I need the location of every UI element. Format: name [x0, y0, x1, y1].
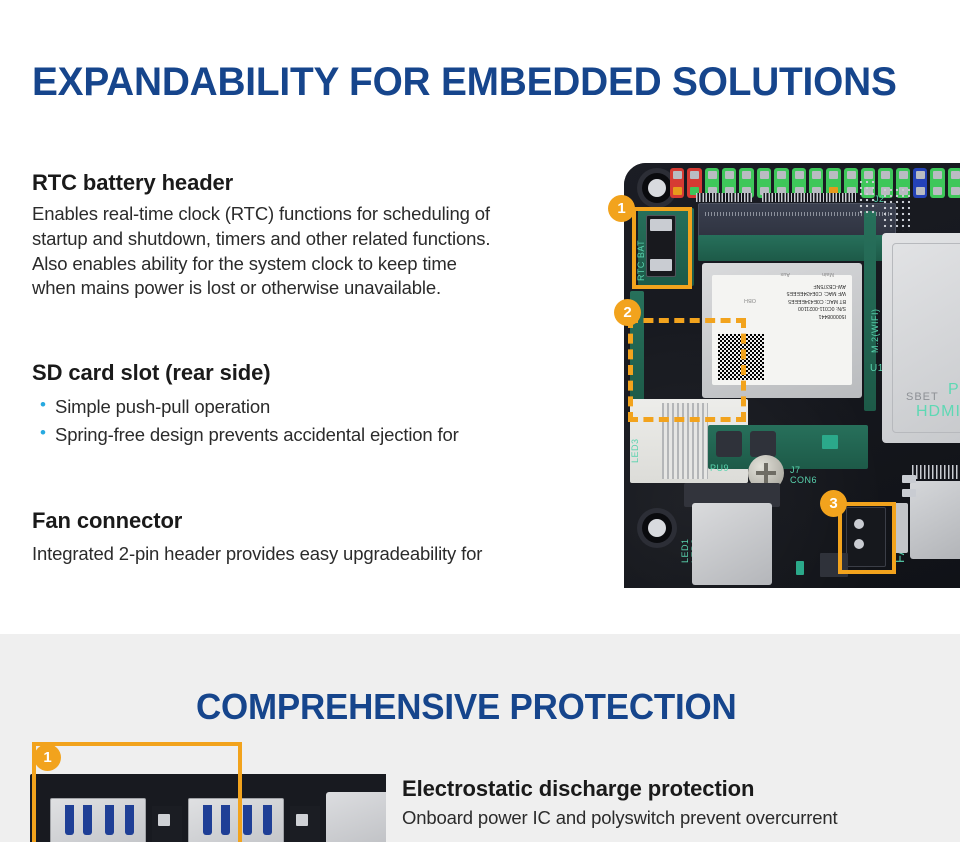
usb-mid-block: [290, 806, 320, 842]
label-part-number: AW-CB375NF: [787, 281, 846, 289]
label-serial: S/N: 0C011-0021100: [787, 304, 846, 312]
body-line: Enables real-time clock (RTC) functions …: [32, 202, 592, 227]
antenna-main-label: Main: [822, 271, 834, 277]
gpio-pin: [670, 168, 684, 198]
body-line: Integrated 2-pin header provides easy up…: [32, 542, 592, 567]
callout-box-rtc: [632, 207, 692, 289]
silver-connector-block: [326, 792, 386, 842]
body-line: startup and shutdown, timers and other r…: [32, 227, 592, 252]
m2-pin-row: [696, 193, 752, 202]
silk-con6: CON6: [790, 475, 817, 485]
via-pad-grid: [882, 187, 910, 231]
callout-box-fan: [838, 502, 896, 574]
hdmi-pin-row: [912, 465, 960, 479]
block-rtc-battery-header: RTC battery header Enables real-time clo…: [32, 170, 592, 301]
silk-j7: J7: [790, 465, 801, 475]
gpio-pin: [948, 168, 960, 198]
body-esd-protection: Onboard power IC and polyswitch prevent …: [402, 806, 952, 831]
inductor: [750, 431, 776, 457]
hdmi-port: [910, 481, 960, 559]
silk-pu9: PU9: [710, 463, 729, 473]
callout-badge-2: 2: [614, 299, 641, 326]
block-fan-connector: Fan connector Integrated 2-pin header pr…: [32, 508, 592, 567]
label-bt-mac: BT MAC: C0E434EEEE5: [787, 296, 846, 304]
smd-component: [902, 475, 916, 483]
body-fan-connector: Integrated 2-pin header provides easy up…: [32, 542, 592, 567]
block-sd-card-slot: SD card slot (rear side) Simple push-pul…: [32, 360, 592, 448]
smd-pad: [822, 435, 838, 449]
section-title-protection: COMPREHENSIVE PROTECTION: [196, 686, 737, 728]
infographic-page: EXPANDABILITY FOR EMBEDDED SOLUTIONS RTC…: [0, 0, 960, 842]
mounting-hole: [642, 173, 672, 203]
mounting-hole: [642, 513, 672, 543]
label-lot: I500008441: [787, 311, 846, 319]
body-rtc-battery-header: Enables real-time clock (RTC) functions …: [32, 202, 592, 300]
section-expandability: EXPANDABILITY FOR EMBEDDED SOLUTIONS RTC…: [0, 0, 960, 634]
bullet-list-sd-card-slot: Simple push-pull operation Spring-free d…: [32, 393, 592, 448]
callout-badge-3: 3: [820, 490, 847, 517]
heading-sd-card-slot: SD card slot (rear side): [32, 360, 592, 386]
silk-m2-wifi: M.2(WIFI): [870, 309, 880, 354]
heading-rtc-battery-header: RTC battery header: [32, 170, 592, 196]
wifi-label-text: I500008441 S/N: 0C011-0021100 BT MAC: C0…: [787, 281, 846, 319]
callout-badge-usb-1: 1: [34, 744, 61, 771]
list-item: Spring-free design prevents accidental e…: [32, 421, 592, 448]
silk-hdmi: HDMI: [916, 403, 960, 421]
antenna-aux-label: Aux: [781, 271, 790, 277]
callout-box-sd-slot: [628, 318, 746, 422]
section-title-expandability: EXPANDABILITY FOR EMBEDDED SOLUTIONS: [32, 60, 897, 105]
m2-pin-row: [762, 193, 858, 202]
callout-box-usb: [32, 742, 242, 842]
silk-pp: PP: [948, 381, 960, 399]
body-line: when mains power is lost or otherwise un…: [32, 276, 592, 301]
gpio-pin: [913, 168, 927, 198]
callout-badge-1: 1: [608, 195, 635, 222]
label-wf-mac: WF MAC: C0E434EEEE5: [787, 289, 846, 297]
silk-led1: LED1: [680, 538, 690, 563]
heading-fan-connector: Fan connector: [32, 508, 592, 534]
ethernet-port: [692, 503, 772, 585]
gpio-pin: [930, 168, 944, 198]
body-line: Also enables ability for the system cloc…: [32, 252, 592, 277]
smd-component: [796, 561, 804, 575]
heading-esd-protection: Electrostatic discharge protection: [402, 776, 952, 802]
inductor: [716, 431, 742, 457]
protection-text-block: Electrostatic discharge protection Onboa…: [402, 776, 952, 831]
smd-component: [902, 489, 916, 497]
silk-led3: LED3: [630, 438, 640, 463]
list-item: Simple push-pull operation: [32, 393, 592, 420]
antenna-obh-label: OBH: [744, 297, 756, 303]
via-pad-grid: [858, 179, 878, 217]
